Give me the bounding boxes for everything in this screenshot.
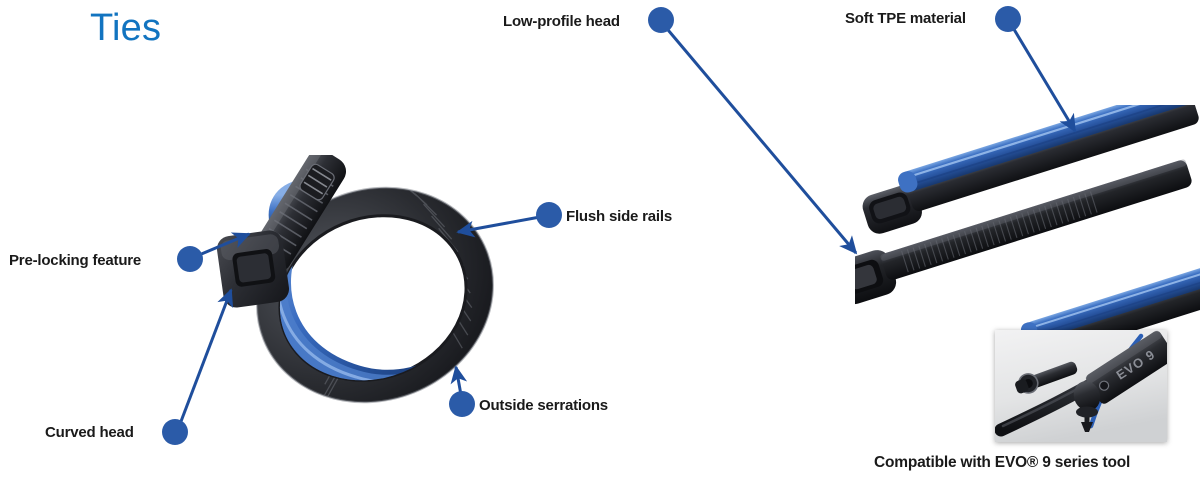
- callout-label-curved-head: Curved head: [45, 425, 134, 440]
- callout-label-soft-tpe-material: Soft TPE material: [845, 11, 966, 26]
- callout-dot-curved-head[interactable]: [162, 419, 188, 445]
- callout-label-low-profile-head: Low-profile head: [503, 14, 620, 29]
- callout-label-outside-serrations: Outside serrations: [479, 398, 608, 413]
- callout-dot-flush-side-rails[interactable]: [536, 202, 562, 228]
- callout-label-flush-side-rails: Flush side rails: [566, 209, 672, 224]
- looped-cable-tie-photo: [180, 155, 510, 420]
- evo-compatibility-caption: Compatible with EVO® 9 series tool: [874, 455, 1130, 471]
- callout-label-pre-locking-feature: Pre-locking feature: [9, 253, 141, 268]
- callout-dot-low-profile-head[interactable]: [648, 7, 674, 33]
- evo-tool-inset-photo: EVO 9: [995, 330, 1167, 442]
- page-title: Ties: [90, 8, 161, 50]
- callout-dot-soft-tpe-material[interactable]: [995, 6, 1021, 32]
- product-diagram-canvas: Ties: [0, 0, 1200, 480]
- leader-low-profile-head: [648, 7, 856, 253]
- straight-cable-ties-photo: [855, 105, 1200, 330]
